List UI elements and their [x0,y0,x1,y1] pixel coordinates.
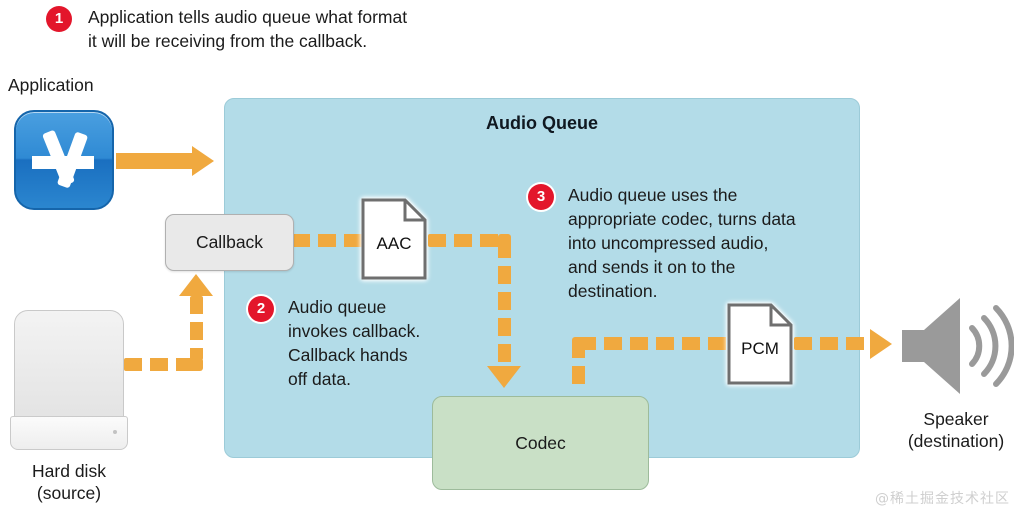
step-1-badge: 1 [46,6,72,32]
app-icon-crossbar [32,156,94,169]
step-3-text: Audio queue uses the appropriate codec, … [568,183,858,303]
watermark: @稀土掘金技术社区 [875,488,1010,508]
callback-node[interactable]: Callback [165,214,294,271]
aac-document-icon: AAC [361,198,427,280]
aac-to-codec-dashed-horizontal [428,234,506,247]
hard-disk-icon [10,310,130,450]
aac-document-label: AAC [361,234,427,254]
pcm-document-label: PCM [727,339,793,359]
aac-to-codec-arrowhead [487,366,521,388]
hard-disk-body [14,310,124,422]
speaker-label: Speaker (destination) [886,408,1024,452]
callback-label: Callback [196,232,263,253]
disk-to-callback-dashed-horizontal [124,358,196,371]
audio-queue-title: Audio Queue [225,113,859,134]
application-icon [14,110,114,210]
step-2-text: Audio queue invokes callback. Callback h… [288,295,468,391]
app-to-queue-arrow-shaft [116,153,194,169]
pcm-to-speaker-arrowhead [870,329,892,359]
aac-to-codec-dashed-vertical [498,240,511,368]
callback-to-aac-dashed-line [292,234,364,247]
speaker-icon [898,296,1014,396]
step-1-text: Application tells audio queue what forma… [88,5,488,53]
codec-node[interactable]: Codec [432,396,649,490]
app-to-queue-arrowhead [192,146,214,176]
speaker-icon-shape [898,296,1014,396]
step-3-badge: 3 [528,184,554,210]
hard-disk-label: Hard disk (source) [0,460,138,504]
hard-disk-led [113,430,117,434]
application-label: Application [8,74,128,96]
pcm-document-icon: PCM [727,303,793,385]
disk-to-callback-dashed-vertical [190,296,203,360]
codec-label: Codec [515,433,566,454]
disk-to-callback-arrowhead [179,274,213,296]
codec-to-pcm-dashed-horizontal [578,337,730,350]
pcm-to-speaker-dashed-line [794,337,870,350]
step-2-badge: 2 [248,296,274,322]
hard-disk-base [10,416,128,450]
